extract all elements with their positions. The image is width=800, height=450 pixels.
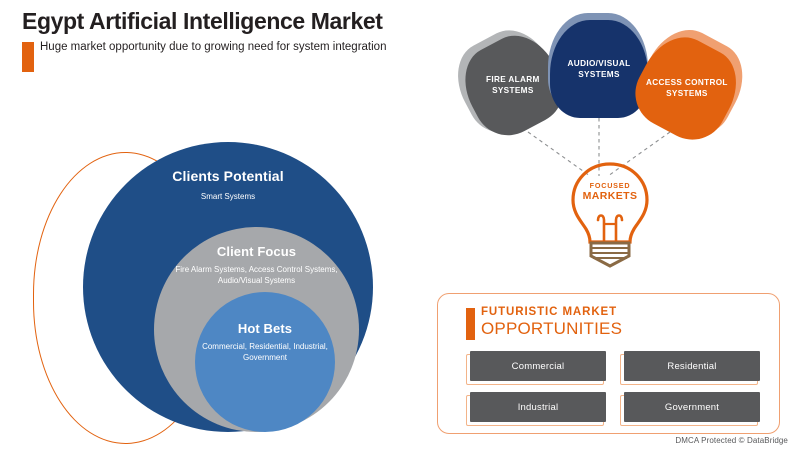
panel-title-group: FUTURISTIC MARKET OPPORTUNITIES — [481, 306, 622, 338]
opportunity-tile-commercial[interactable]: Commercial — [470, 351, 606, 381]
venn-outer-label: Clients Potential — [172, 168, 283, 184]
panel-header: FUTURISTIC MARKET OPPORTUNITIES — [466, 306, 622, 338]
venn-inner-detail: Commercial, Residential, Industrial, Gov… — [195, 342, 335, 363]
opportunity-tile-residential[interactable]: Residential — [624, 351, 760, 381]
opportunity-tile-government[interactable]: Government — [624, 392, 760, 422]
panel-title-line1: FUTURISTIC MARKET — [481, 306, 622, 319]
venn-diagram: Clients Potential Smart Systems Client F… — [0, 140, 400, 450]
venn-circle-hot-bets: Hot Bets Commercial, Residential, Indust… — [195, 292, 335, 432]
panel-title-line2: OPPORTUNITIES — [481, 319, 622, 338]
page-title: Egypt Artificial Intelligence Market — [22, 8, 383, 35]
footer-copyright: DMCA Protected © DataBridge — [675, 436, 788, 445]
page-subtitle: Huge market opportunity due to growing n… — [40, 40, 436, 55]
lightbulb-line1: FOCUSED — [552, 182, 668, 189]
lightbulb-line2: MARKETS — [552, 191, 668, 202]
futuristic-opportunities-panel: FUTURISTIC MARKET OPPORTUNITIES Commerci… — [437, 293, 780, 434]
opportunity-tiles: Commercial Residential Industrial Govern… — [466, 351, 761, 425]
lightbulb-graphic: FOCUSED MARKETS — [552, 158, 668, 270]
panel-accent-bar — [466, 308, 475, 340]
lightbulb-icon — [552, 158, 668, 270]
subtitle-accent-bar — [22, 42, 34, 72]
tile-wrap: Residential — [620, 351, 760, 384]
venn-middle-detail: Fire Alarm Systems, Access Control Syste… — [154, 265, 359, 286]
tile-wrap: Commercial — [466, 351, 606, 384]
subtitle-block: Huge market opportunity due to growing n… — [22, 40, 434, 55]
venn-middle-label: Client Focus — [217, 244, 296, 259]
opportunity-tile-industrial[interactable]: Industrial — [470, 392, 606, 422]
venn-inner-label: Hot Bets — [238, 321, 292, 336]
venn-outer-detail: Smart Systems — [201, 192, 255, 203]
tile-wrap: Industrial — [466, 392, 606, 425]
lightbulb-text: FOCUSED MARKETS — [552, 182, 668, 202]
tile-wrap: Government — [620, 392, 760, 425]
infographic-canvas: Egypt Artificial Intelligence Market Hug… — [0, 0, 800, 450]
